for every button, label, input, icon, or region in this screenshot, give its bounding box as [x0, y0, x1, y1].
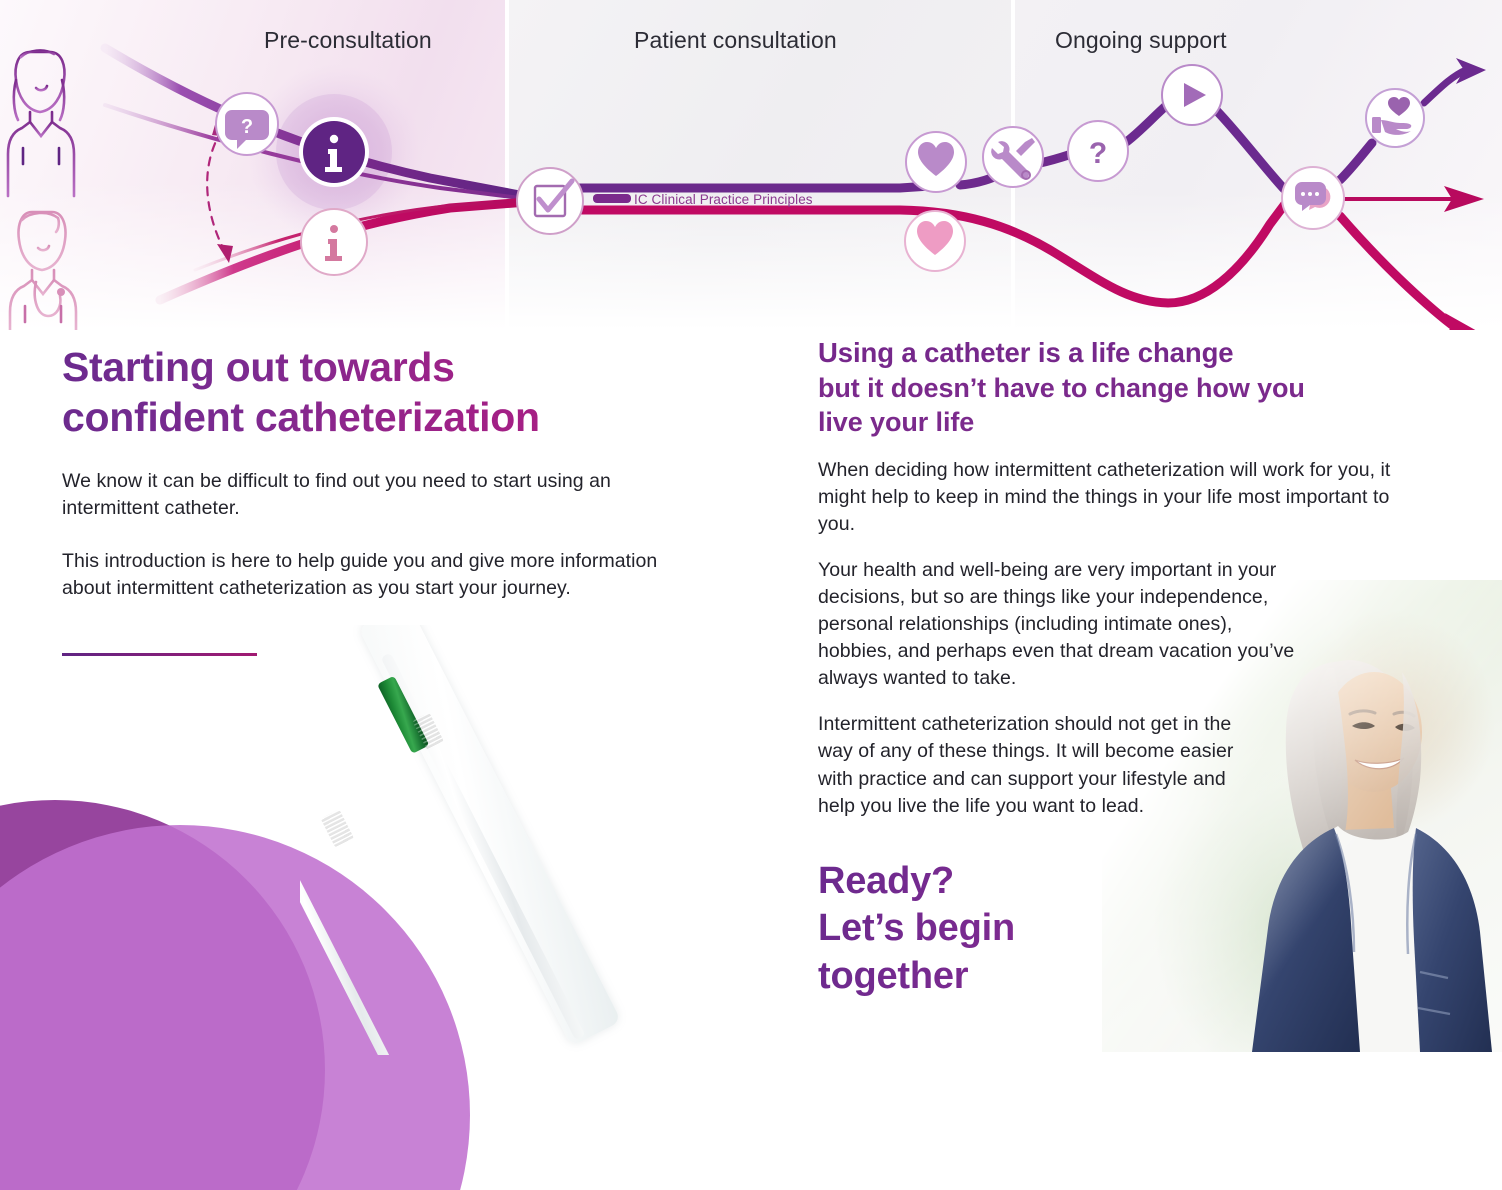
left-column: Starting out towards confident catheteri…	[62, 342, 702, 656]
checklist-checkbox-icon	[517, 168, 583, 234]
right-paragraph-2: Your health and well-being are very impo…	[818, 557, 1298, 692]
legend-dash	[593, 194, 631, 203]
page-title: Starting out towards confident catheteri…	[62, 342, 702, 442]
svg-text:?: ?	[241, 116, 253, 138]
right-column: Using a catheter is a life change but it…	[818, 335, 1438, 1000]
right-heading-line-1: Using a catheter is a life change	[818, 337, 1233, 368]
call-to-action-heading: Ready? Let’s begin together	[818, 858, 1438, 1001]
path-purple-exit	[1424, 70, 1466, 103]
right-heading-line-3: live your life	[818, 407, 974, 437]
question-speech-bubble-icon: ?	[216, 93, 278, 155]
cta-line-1: Ready?	[818, 860, 954, 902]
cta-line-3: together	[818, 955, 968, 997]
catheter-grip-rings-bare	[321, 809, 355, 848]
doctor-avatar-icon	[10, 212, 76, 330]
right-column-heading: Using a catheter is a life change but it…	[818, 335, 1438, 440]
main-content: Starting out towards confident catheteri…	[0, 330, 1502, 1052]
decorative-purple-circles	[0, 770, 490, 1190]
ic-clinical-practice-principles-label: IC Clinical Practice Principles	[634, 192, 813, 207]
heart-icon-pink	[905, 211, 965, 271]
stage-label-pre-consultation: Pre-consultation	[264, 27, 432, 54]
left-paragraph-2: This introduction is here to help guide …	[62, 548, 702, 601]
catheter-sterile-sleeve	[358, 625, 621, 1046]
svg-text:?: ?	[1089, 137, 1107, 170]
tools-maintenance-icon	[983, 127, 1043, 187]
stage-label-patient-consultation: Patient consultation	[634, 27, 837, 54]
deco-circle-light	[0, 825, 470, 1190]
catheter-grip-rings-sleeved	[412, 712, 444, 750]
deco-circle-dark	[0, 800, 325, 1190]
right-heading-line-2: but it doesn’t have to change how you	[818, 373, 1305, 403]
left-paragraph-1: We know it can be difficult to find out …	[62, 468, 702, 521]
page-title-line-2: confident catheterization	[62, 394, 540, 440]
path-dashed-link	[207, 130, 224, 250]
right-paragraph-1: When deciding how intermittent catheteri…	[818, 457, 1428, 538]
information-outline-icon	[301, 209, 367, 275]
path-magenta-exit-down	[1340, 216, 1452, 325]
path-purple-descend	[1216, 110, 1285, 190]
page-title-line-1: Starting out towards	[62, 344, 455, 390]
chat-bubbles-icon	[1282, 167, 1344, 229]
stage-label-ongoing-support: Ongoing support	[1055, 27, 1227, 54]
path-purple-to-hand	[1340, 143, 1372, 180]
heart-icon-purple	[906, 132, 966, 192]
hand-heart-care-icon	[1366, 89, 1424, 147]
play-video-icon	[1162, 65, 1222, 125]
right-paragraph-3: Intermittent catheterization should not …	[818, 711, 1248, 819]
journey-header-diagram: ?	[0, 0, 1502, 330]
catheter-tube-sleeved	[381, 653, 586, 1041]
catheter-tube-bare	[300, 791, 418, 1055]
catheter-green-tip-sleeved	[377, 676, 429, 754]
section-divider	[62, 653, 257, 656]
path-purple-consultation	[576, 186, 930, 188]
information-filled-icon	[299, 117, 369, 187]
path-purple-rise-3	[1125, 104, 1168, 143]
cta-line-2: Let’s begin	[818, 907, 1015, 949]
nurse-avatar-icon	[8, 50, 74, 196]
catheter-product-image	[300, 625, 860, 1055]
question-mark-icon: ?	[1068, 121, 1128, 181]
